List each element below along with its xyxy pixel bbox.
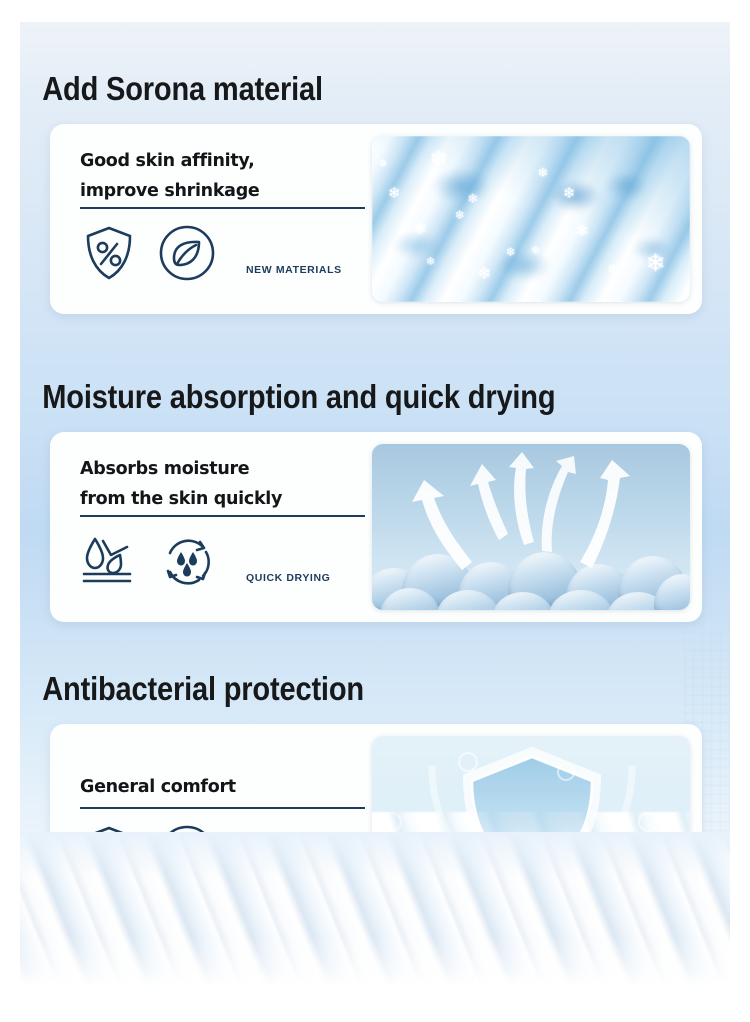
infographic-page: Add Sorona material Good skin affinity, … <box>0 0 750 1022</box>
card-icon-row: NEW MATERIALS <box>78 222 342 284</box>
card-text-line-2: from the skin quickly <box>80 484 370 514</box>
card-text-area: Good skin affinity, improve shrinkage <box>50 124 370 314</box>
droplet-cycle-circle-icon <box>156 530 218 592</box>
card-divider <box>80 515 365 517</box>
feature-card: Good skin affinity, improve shrinkage <box>50 124 702 314</box>
card-text-line-2: improve shrinkage <box>80 176 370 206</box>
feature-label: QUICK DRYING <box>246 572 330 592</box>
section-heading: Moisture absorption and quick drying <box>0 378 660 416</box>
card-text-line-1: Absorbs moisture <box>80 454 370 484</box>
card-text-area: Absorbs moisture from the skin quickly <box>50 432 370 622</box>
feature-section-sorona: Add Sorona material Good skin affinity, … <box>0 70 750 314</box>
card-icon-row: QUICK DRYING <box>78 530 330 592</box>
feature-card: Absorbs moisture from the skin quickly <box>50 432 702 622</box>
leaf-circle-icon <box>156 222 218 284</box>
section-heading: Antibacterial protection <box>0 670 660 708</box>
water-repellent-icon <box>78 530 140 592</box>
card-divider <box>80 807 365 809</box>
feature-label: NEW MATERIALS <box>246 264 342 284</box>
card-divider <box>80 207 365 209</box>
card-text-line-1: Good skin affinity, <box>80 146 370 176</box>
shield-percent-icon <box>78 222 140 284</box>
moisture-evaporation-arrows-photo <box>372 444 690 610</box>
section-heading: Add Sorona material <box>0 70 660 108</box>
feature-section-quick-drying: Moisture absorption and quick drying Abs… <box>0 378 750 622</box>
card-text-line-1: General comfort <box>80 746 370 802</box>
snowflake-fabric-weave-photo: ❄ ❄ ❄ ❄ ❄ ❄ ❄ ❄ ❄ ❄ ❄ ❄ ❄ ❄ ❄ <box>372 136 690 302</box>
bottom-quilted-fabric-band <box>20 832 730 1000</box>
